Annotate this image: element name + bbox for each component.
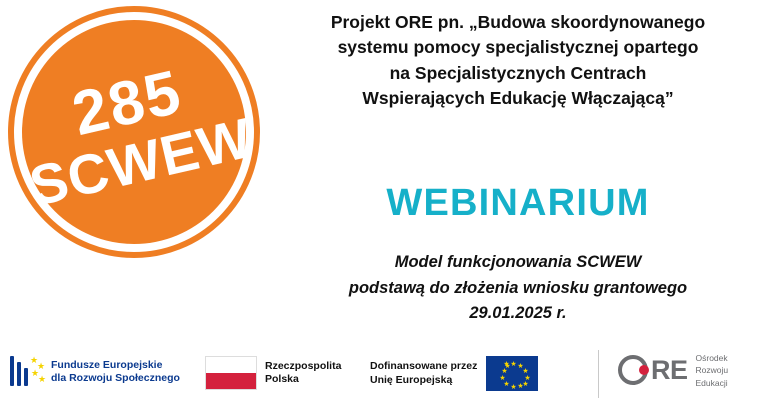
- webinar-subtitle: Model funkcjonowania SCWEW podstawą do z…: [268, 250, 768, 327]
- headline-line-4: Wspierających Edukację Włączającą”: [268, 86, 768, 111]
- fundusze-europejskie-logo: ★ ★ ★ ★ Fundusze Europejskie dla Rozwoju…: [10, 352, 180, 392]
- slide-canvas: 285 SCWEW Projekt ORE pn. „Budowa skoord…: [0, 0, 780, 420]
- headline-line-3: na Specjalistycznych Centrach: [268, 61, 768, 86]
- ore-letters: RE: [651, 357, 688, 384]
- scwew-stamp: 285 SCWEW: [8, 6, 264, 262]
- fundusze-line-1: Fundusze Europejskie: [51, 359, 180, 372]
- fundusze-line-2: dla Rozwoju Społecznego: [51, 372, 180, 385]
- fundusze-europejskie-icon: ★ ★ ★ ★: [10, 352, 44, 392]
- eu-line-1: Dofinansowane przez: [370, 360, 477, 373]
- webinar-title: WEBINARIUM: [268, 182, 768, 225]
- european-union-flag-icon: ★ ★ ★ ★ ★ ★ ★ ★ ★ ★ ★ ★: [486, 356, 538, 391]
- ore-line-2: Rozwoju: [696, 364, 729, 376]
- rzeczpospolita-line-2: Polska: [265, 373, 341, 386]
- headline-line-2: systemu pomocy specjalistycznej opartego: [268, 35, 768, 60]
- headline-line-1: Projekt ORE pn. „Budowa skoordynowanego: [268, 10, 768, 35]
- subtitle-date: 29.01.2025 r.: [268, 301, 768, 327]
- ore-line-3: Edukacji: [696, 377, 729, 389]
- fundusze-europejskie-text: Fundusze Europejskie dla Rozwoju Społecz…: [51, 359, 180, 386]
- rzeczpospolita-polska-logo: Rzeczpospolita Polska: [205, 356, 341, 390]
- footer-divider: [598, 350, 599, 398]
- stamp-text-group: 285 SCWEW: [0, 0, 268, 266]
- european-union-text: Dofinansowane przez Unię Europejską: [370, 360, 477, 387]
- eu-line-2: Unię Europejską: [370, 374, 477, 387]
- subtitle-line-1: Model funkcjonowania SCWEW: [268, 250, 768, 276]
- european-union-logo: Dofinansowane przez Unię Europejską ★ ★ …: [370, 356, 538, 391]
- rzeczpospolita-text: Rzeczpospolita Polska: [265, 360, 341, 387]
- ore-mark-icon: RE: [618, 355, 688, 385]
- ore-circle-icon: [618, 355, 648, 385]
- ore-text: Ośrodek Rozwoju Edukacji: [696, 352, 729, 389]
- polish-flag-icon: [205, 356, 257, 390]
- ore-logo: RE Ośrodek Rozwoju Edukacji: [618, 352, 728, 389]
- subtitle-line-2: podstawą do złożenia wniosku grantowego: [268, 276, 768, 302]
- ore-line-1: Ośrodek: [696, 352, 729, 364]
- rzeczpospolita-line-1: Rzeczpospolita: [265, 360, 341, 373]
- project-headline: Projekt ORE pn. „Budowa skoordynowanego …: [268, 10, 768, 112]
